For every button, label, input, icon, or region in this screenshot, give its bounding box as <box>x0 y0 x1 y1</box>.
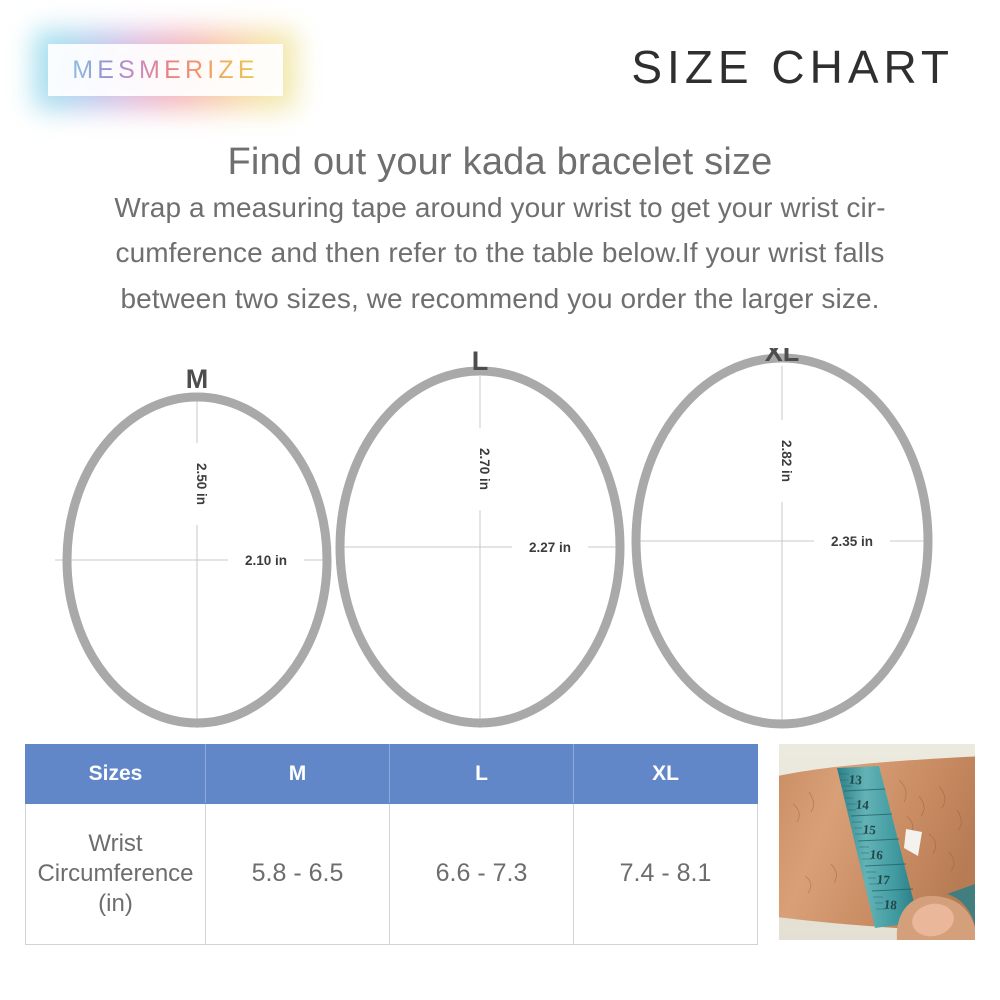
tape-mark-16: 16 <box>869 846 884 862</box>
table-header-xl: XL <box>574 745 758 804</box>
tape-mark-13: 13 <box>848 771 863 787</box>
cell-wrist-xl: 7.4 - 8.1 <box>574 804 758 945</box>
brand-logo: MESMERIZE <box>48 44 283 96</box>
table-header-m: M <box>206 745 390 804</box>
oval-height-label-l: 2.70 in <box>477 448 492 490</box>
oval-size-label-l: L <box>472 348 489 376</box>
oval-size-label-m: M <box>186 364 209 394</box>
oval-width-label-l: 2.27 in <box>529 540 571 555</box>
oval-width-label-xl: 2.35 in <box>831 534 873 549</box>
row-label-line-3: (in) <box>27 889 204 919</box>
row-label-line-1: Wrist <box>27 829 204 859</box>
wrist-measurement-photo: 13 14 15 16 17 18 <box>779 744 975 940</box>
cell-wrist-m: 5.8 - 6.5 <box>206 804 390 945</box>
tape-mark-15: 15 <box>862 821 877 837</box>
oval-size-label-xl: XL <box>765 348 800 367</box>
oval-width-label-m: 2.10 in <box>245 553 287 568</box>
table-row: Wrist Circumference (in) 5.8 - 6.5 6.6 -… <box>26 804 758 945</box>
oval-height-label-m: 2.50 in <box>194 463 209 505</box>
table-header-sizes: Sizes <box>26 745 206 804</box>
oval-group-m: M 2.50 in 2.10 in <box>55 364 330 728</box>
intro-line-2: cumference and then refer to the table b… <box>0 230 1000 275</box>
tape-mark-14: 14 <box>855 796 870 812</box>
intro-line-1: Wrap a measuring tape around your wrist … <box>0 185 1000 230</box>
intro-heading: Find out your kada bracelet size <box>0 140 1000 185</box>
size-table: Sizes M L XL Wrist Circumference (in) 5.… <box>25 744 758 945</box>
page-title: SIZE CHART <box>631 44 954 90</box>
tape-mark-17: 17 <box>876 871 891 887</box>
oval-diagram: M 2.50 in 2.10 in L 2.70 in 2.27 in XL 2… <box>0 348 1000 740</box>
oval-height-label-xl: 2.82 in <box>779 440 794 482</box>
brand-wordmark: MESMERIZE <box>48 44 283 96</box>
oval-group-xl: XL 2.82 in 2.35 in <box>634 348 930 728</box>
row-label-wrist-circumference: Wrist Circumference (in) <box>26 804 206 945</box>
tape-mark-18: 18 <box>883 896 898 912</box>
row-label-line-2: Circumference <box>27 859 204 889</box>
table-header-l: L <box>390 745 574 804</box>
intro-block: Find out your kada bracelet size Wrap a … <box>0 140 1000 321</box>
oval-group-l: L 2.70 in 2.27 in <box>340 348 620 728</box>
intro-line-3: between two sizes, we recommend you orde… <box>0 276 1000 321</box>
table-header-row: Sizes M L XL <box>26 745 758 804</box>
cell-wrist-l: 6.6 - 7.3 <box>390 804 574 945</box>
